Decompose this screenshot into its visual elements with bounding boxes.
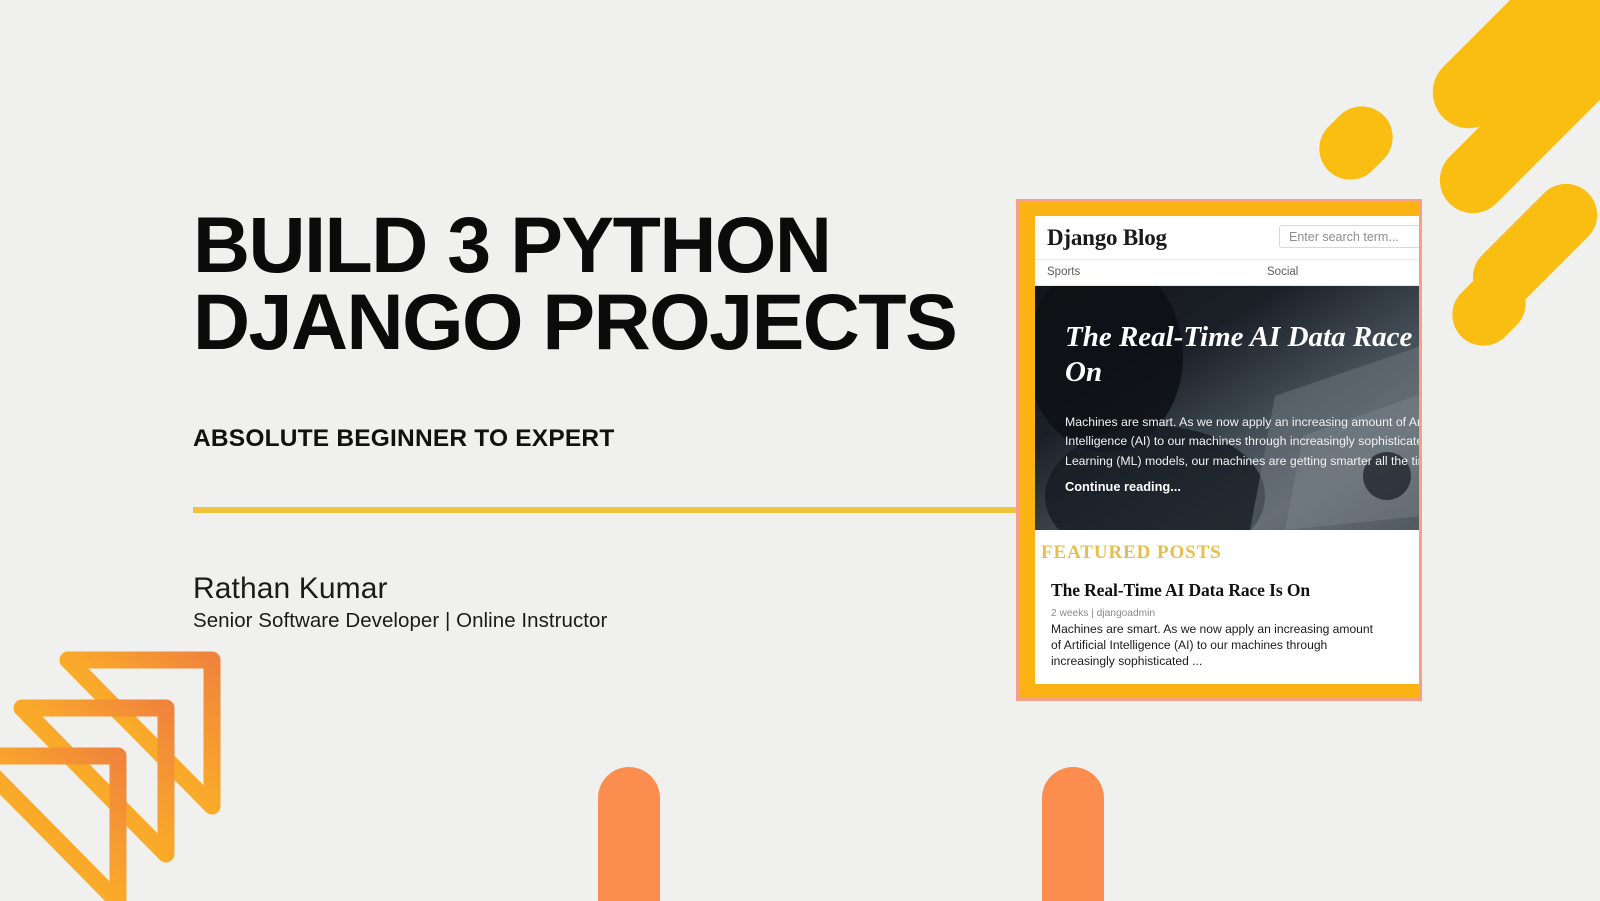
yellow-bar-long-2 [1426,0,1600,227]
headline-line-1: BUILD 3 PYTHON [193,200,830,289]
post-excerpt: Machines are smart. As we now apply an i… [1051,622,1381,670]
triangle-outline-1 [0,756,118,901]
nav-item-sports[interactable]: Sports [1047,266,1080,278]
hero-title: The Real-Time AI Data Race Is On [1065,320,1417,391]
hero-article[interactable]: The Real-Time AI Data Race Is On Machine… [1035,286,1421,530]
featured-posts-heading: FEATURED POSTS [1041,542,1222,564]
blog-brand: Django Blog [1047,225,1167,251]
triangle-outline-group [0,660,212,901]
search-placeholder: Enter search term... [1289,230,1399,244]
page-title: BUILD 3 PYTHON DJANGO PROJECTS [193,206,983,361]
hero-excerpt-line-1: Machines are smart. As we now apply an i… [1065,413,1421,432]
hero-excerpt-line-3: Learning (ML) models, our machines are g… [1065,452,1421,471]
hero-title-line-2: On [1065,355,1417,390]
blog-mockup-frame: Django Blog Enter search term... Sports … [1016,199,1422,701]
blog-nav: Sports Social [1035,260,1421,286]
post-meta: 2 weeks | djangoadmin [1051,608,1381,619]
blog-mockup-screen: Django Blog Enter search term... Sports … [1035,216,1421,684]
headline-line-2: DJANGO PROJECTS [193,283,983,360]
featured-posts-section: FEATURED POSTS The Real-Time AI Data Rac… [1035,530,1421,684]
author-role: Senior Software Developer | Online Instr… [193,609,607,633]
yellow-bar-long-1 [1418,0,1600,143]
blog-header: Django Blog Enter search term... [1035,216,1421,260]
hero-excerpt: Machines are smart. As we now apply an i… [1065,413,1421,471]
triangle-outline-3 [68,660,212,806]
slide-canvas: BUILD 3 PYTHON DJANGO PROJECTS ABSOLUTE … [0,0,1600,901]
list-item[interactable]: The Real-Time AI Data Race Is On 2 weeks… [1051,580,1381,670]
continue-reading-link[interactable]: Continue reading... [1065,479,1181,494]
yellow-bar-short-1 [1460,171,1600,321]
divider-rule [193,507,1018,513]
orange-pill-left [598,767,660,901]
orange-pill-right [1042,767,1104,901]
hero-excerpt-line-2: Intelligence (AI) to our machines throug… [1065,432,1421,451]
author-name: Rathan Kumar [193,572,388,606]
hero-title-line-1: The Real-Time AI Data Race Is [1065,321,1421,353]
subheadline: ABSOLUTE BEGINNER TO EXPERT [193,425,615,453]
search-input[interactable]: Enter search term... [1279,225,1421,248]
nav-item-social[interactable]: Social [1267,266,1298,278]
triangle-outline-2 [22,708,166,854]
yellow-blob-1 [1307,94,1406,193]
yellow-blob-2 [1440,260,1539,359]
post-title[interactable]: The Real-Time AI Data Race Is On [1051,580,1381,601]
